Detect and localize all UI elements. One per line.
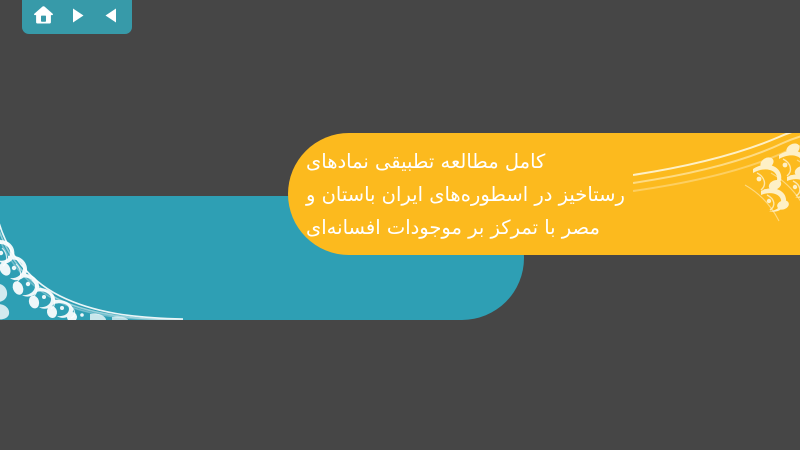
- back-button[interactable]: [99, 3, 123, 27]
- slide-canvas: کامل مطالعه تطبیقی نمادهای رستاخیز در اس…: [0, 0, 800, 450]
- yellow-title-banner: [288, 133, 800, 255]
- arabesque-islimi-ornament: [633, 133, 800, 255]
- home-icon: [33, 5, 54, 25]
- forward-button[interactable]: [65, 3, 89, 27]
- triangle-left-icon: [103, 7, 120, 24]
- triangle-right-icon: [69, 7, 86, 24]
- arabesque-islimi-ornament: [0, 196, 184, 320]
- home-button[interactable]: [31, 3, 55, 27]
- navigation-bar: [22, 0, 132, 34]
